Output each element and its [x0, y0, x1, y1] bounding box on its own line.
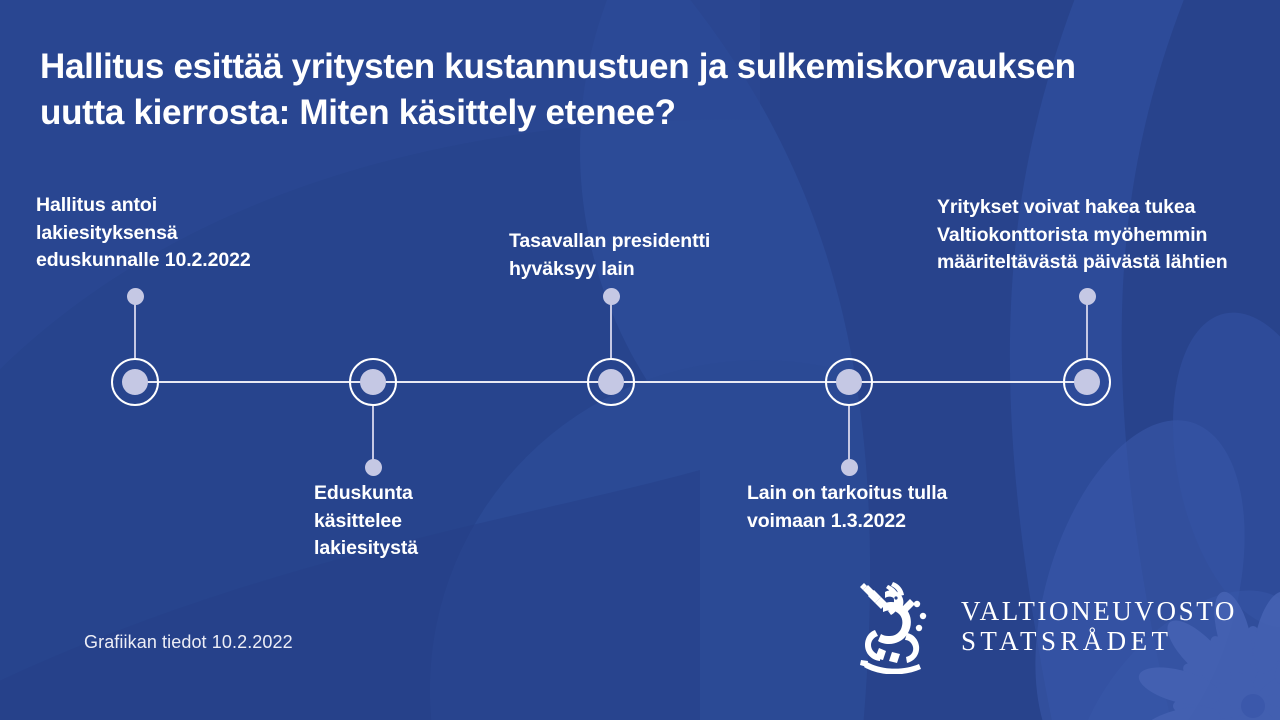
timeline-label-4: Lain on tarkoitus tulla voimaan 1.3.2022 — [747, 480, 947, 535]
timeline-label-2-line-3: lakiesitystä — [314, 535, 418, 563]
timeline-label-5: Yritykset voivat hakea tukea Valtiokontt… — [937, 194, 1228, 277]
page-title: Hallitus esittää yritysten kustannustuen… — [40, 44, 1250, 135]
timeline-label-1-line-3: eduskunnalle 10.2.2022 — [36, 247, 251, 275]
timeline-label-5-line-3: määriteltävästä päivästä lähtien — [937, 249, 1228, 277]
timeline-label-4-line-2: voimaan 1.3.2022 — [747, 508, 947, 536]
timeline-label-3-line-1: Tasavallan presidentti — [509, 228, 710, 256]
timeline-node-core-5 — [1074, 369, 1100, 395]
timeline-label-1-line-2: lakiesityksensä — [36, 220, 251, 248]
timeline-stem-tip-3 — [603, 288, 620, 305]
timeline-stem-3 — [610, 296, 612, 358]
timeline-stem-tip-5 — [1079, 288, 1096, 305]
timeline-stem-tip-2 — [365, 459, 382, 476]
page-title-line-2: uutta kierrosta: Miten käsittely etenee? — [40, 90, 1250, 136]
timeline-label-3-line-2: hyväksyy lain — [509, 256, 710, 284]
timeline-label-1: Hallitus antoi lakiesityksensä eduskunna… — [36, 192, 251, 275]
timeline-node-core-3 — [598, 369, 624, 395]
logo-word-sv: STATSRÅDET — [961, 626, 1237, 656]
logo-word-fi: VALTIONEUVOSTO — [961, 596, 1237, 626]
timeline-node-core-2 — [360, 369, 386, 395]
page-title-line-1: Hallitus esittää yritysten kustannustuen… — [40, 44, 1250, 90]
timeline-stem-tip-4 — [841, 459, 858, 476]
timeline-label-2-line-1: Eduskunta — [314, 480, 418, 508]
timeline-label-2-line-2: käsittelee — [314, 508, 418, 536]
timeline-label-1-line-1: Hallitus antoi — [36, 192, 251, 220]
logo-wordmark: VALTIONEUVOSTO STATSRÅDET — [961, 596, 1237, 656]
timeline-stem-tip-1 — [127, 288, 144, 305]
timeline-node-core-4 — [836, 369, 862, 395]
timeline-label-2: Eduskunta käsittelee lakiesitystä — [314, 480, 418, 563]
timeline-label-5-line-2: Valtiokonttorista myöhemmin — [937, 222, 1228, 250]
timeline-node-core-1 — [122, 369, 148, 395]
finland-coat-of-arms-lion-icon — [855, 578, 941, 674]
timeline-label-5-line-1: Yritykset voivat hakea tukea — [937, 194, 1228, 222]
timeline-label-3: Tasavallan presidentti hyväksyy lain — [509, 228, 710, 283]
timeline-label-4-line-1: Lain on tarkoitus tulla — [747, 480, 947, 508]
valtioneuvosto-logo: VALTIONEUVOSTO STATSRÅDET — [855, 578, 1237, 674]
source-note: Grafiikan tiedot 10.2.2022 — [84, 632, 293, 653]
timeline-stem-1 — [134, 296, 136, 358]
timeline-stem-5 — [1086, 296, 1088, 358]
